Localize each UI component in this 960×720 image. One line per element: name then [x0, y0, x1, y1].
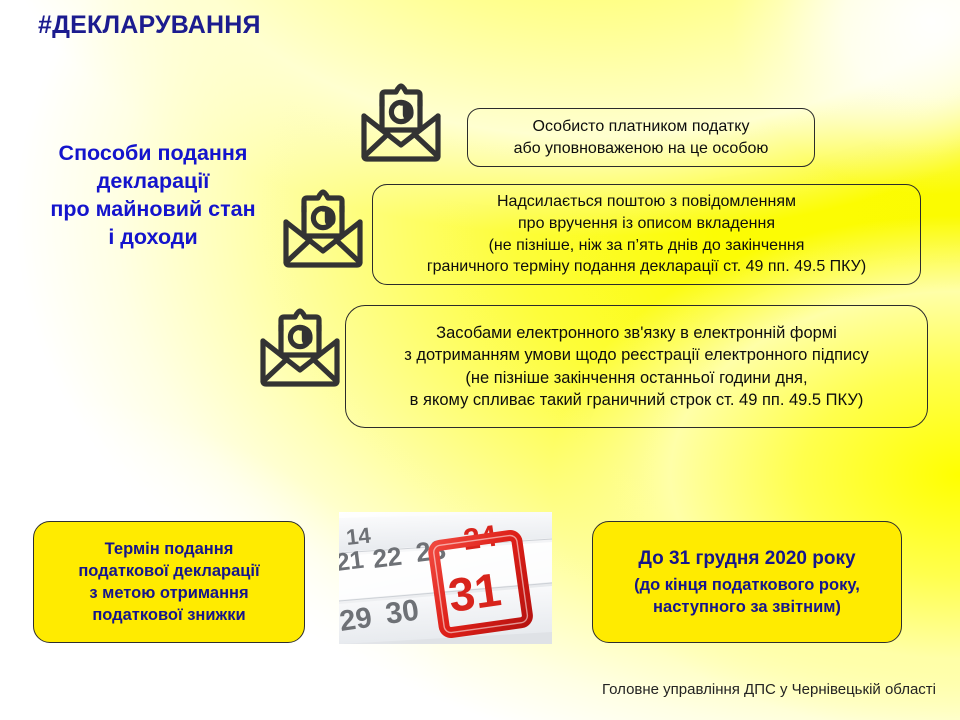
- email-envelope-icon: [257, 307, 343, 389]
- date-line-1: До 31 грудня 2020 року: [638, 546, 855, 571]
- method-2-line-1: Надсилається поштою з повідомленням: [497, 191, 796, 213]
- page-title-line-3: про майновий стан: [8, 196, 298, 224]
- method-3-line-1: Засобами електронного зв'язку в електрон…: [436, 322, 837, 344]
- method-2-line-4: граничного терміну подання декларації ст…: [427, 256, 866, 278]
- hashtag-title: #ДЕКЛАРУВАННЯ: [38, 11, 261, 40]
- page-title-line-1: Способи подання: [8, 140, 298, 168]
- term-line-1: Термін подання: [105, 538, 234, 560]
- method-2-line-2: про вручення із описом вкладення: [518, 213, 775, 235]
- svg-text:29: 29: [339, 602, 374, 638]
- method-1-line-1: Особисто платником податку: [533, 116, 750, 138]
- svg-text:30: 30: [383, 594, 421, 631]
- method-callout-2: Надсилається поштою з повідомленням про …: [372, 184, 921, 285]
- infographic-poster: #ДЕКЛАРУВАННЯ Способи подання декларації…: [0, 0, 960, 720]
- svg-text:31: 31: [445, 562, 504, 622]
- date-line-2: (до кінця податкового року,: [634, 574, 860, 596]
- calendar-photo: 14 21 22 23 24 29 30 31: [339, 512, 552, 644]
- method-3-line-3: (не пізніше закінчення останньої години …: [465, 367, 807, 389]
- method-3-line-2: з дотриманням умови щодо реєстрації елек…: [404, 344, 869, 366]
- method-2-line-3: (не пізніше, ніж за п’ять днів до закінч…: [489, 235, 805, 257]
- method-callout-3: Засобами електронного зв'язку в електрон…: [345, 305, 928, 428]
- method-callout-1: Особисто платником податку або уповноваж…: [467, 108, 815, 167]
- method-1-line-2: або уповноваженою на це особою: [514, 138, 769, 160]
- page-title: Способи подання декларації про майновий …: [8, 140, 298, 252]
- footer-attribution: Головне управління ДПС у Чернівецькій об…: [0, 681, 936, 698]
- svg-text:22: 22: [371, 541, 403, 574]
- email-envelope-icon: [280, 188, 366, 270]
- deadline-term-box: Термін подання податкової декларації з м…: [33, 521, 305, 643]
- email-envelope-icon: [358, 82, 444, 164]
- page-title-line-2: декларації: [8, 168, 298, 196]
- date-line-3: наступного за звітним): [653, 596, 841, 618]
- term-line-4: податкової знижки: [92, 604, 245, 626]
- method-3-line-4: в якому спливає такий граничний строк ст…: [410, 389, 864, 411]
- page-title-line-4: і доходи: [8, 224, 298, 252]
- term-line-3: з метою отримання: [89, 582, 248, 604]
- svg-text:21: 21: [339, 546, 365, 577]
- term-line-2: податкової декларації: [78, 560, 259, 582]
- deadline-date-box: До 31 грудня 2020 року (до кінця податко…: [592, 521, 902, 643]
